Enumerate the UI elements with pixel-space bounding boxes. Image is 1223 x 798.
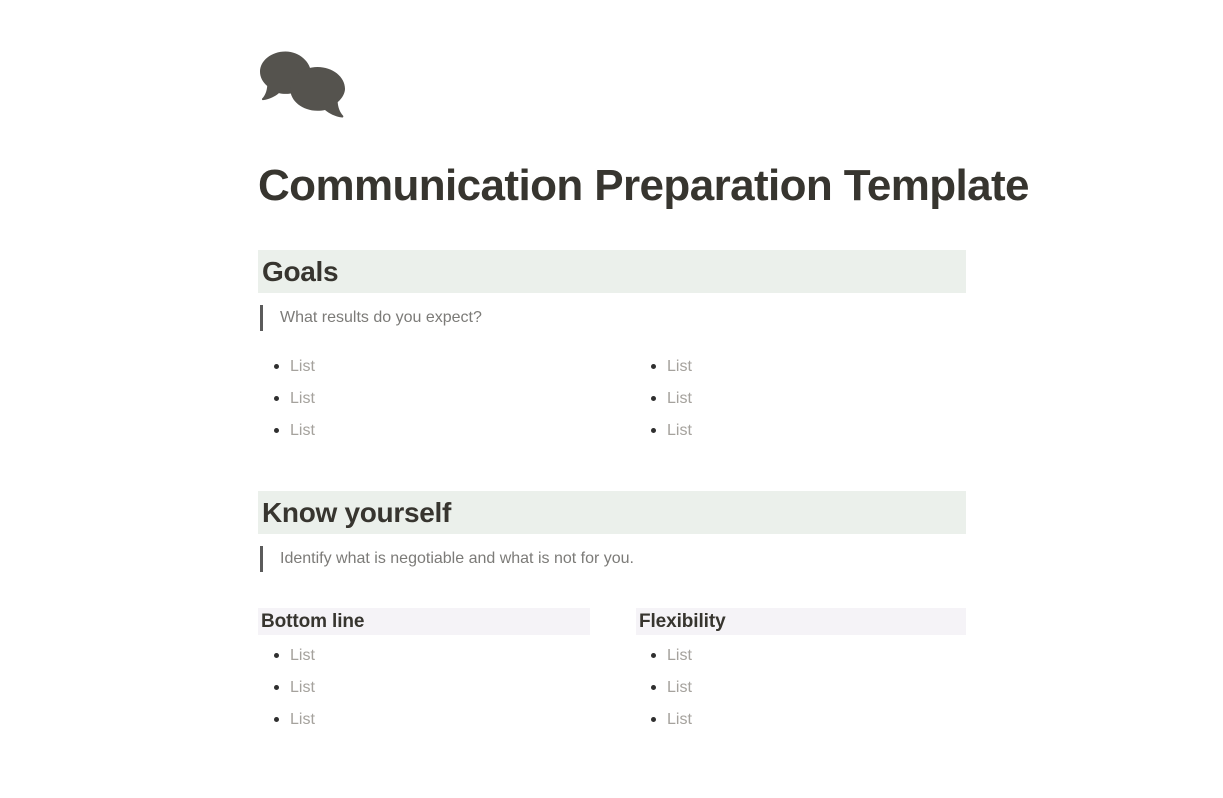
list-item-label: List	[290, 677, 315, 699]
sub-header-bottom-line[interactable]: Bottom line	[258, 608, 590, 635]
list-item[interactable]: List	[637, 415, 957, 447]
bullet-dot-icon	[651, 653, 656, 658]
list-item-label: List	[667, 388, 692, 410]
sub-heading-text: Bottom line	[261, 610, 364, 634]
bullet-dot-icon	[651, 428, 656, 433]
section-heading-text: Know yourself	[262, 496, 451, 530]
bullet-dot-icon	[651, 717, 656, 722]
sub-header-flexibility[interactable]: Flexibility	[636, 608, 966, 635]
list-item-label: List	[667, 645, 692, 667]
list-item[interactable]: List	[637, 704, 957, 736]
bullet-dot-icon	[274, 428, 279, 433]
list-item[interactable]: List	[260, 640, 580, 672]
bullet-list-goals-left: List List List	[260, 351, 580, 447]
section-heading-text: Goals	[262, 255, 338, 289]
bullet-dot-icon	[274, 685, 279, 690]
list-item-label: List	[290, 356, 315, 378]
bullet-dot-icon	[274, 717, 279, 722]
list-item-label: List	[290, 709, 315, 731]
list-item[interactable]: List	[260, 415, 580, 447]
list-item[interactable]: List	[637, 640, 957, 672]
callout-goals[interactable]: What results do you expect?	[260, 305, 860, 331]
bullet-list-goals-right: List List List	[637, 351, 957, 447]
list-item-label: List	[667, 420, 692, 442]
callout-know-yourself[interactable]: Identify what is negotiable and what is …	[260, 546, 960, 572]
callout-text: Identify what is negotiable and what is …	[280, 548, 634, 570]
section-header-know-yourself[interactable]: Know yourself	[258, 491, 966, 534]
bullet-dot-icon	[651, 685, 656, 690]
callout-bar	[260, 305, 263, 331]
list-item-label: List	[290, 388, 315, 410]
list-item[interactable]: List	[637, 351, 957, 383]
sub-heading-text: Flexibility	[639, 610, 726, 634]
bullet-dot-icon	[651, 364, 656, 369]
list-item[interactable]: List	[260, 704, 580, 736]
callout-text: What results do you expect?	[280, 307, 482, 329]
page-title: Communication Preparation Template	[258, 157, 1098, 215]
section-header-goals[interactable]: Goals	[258, 250, 966, 293]
callout-bar	[260, 546, 263, 572]
list-item[interactable]: List	[260, 672, 580, 704]
bullet-dot-icon	[651, 396, 656, 401]
document-page: Communication Preparation Template Goals…	[0, 0, 1223, 798]
bullet-dot-icon	[274, 396, 279, 401]
list-item-label: List	[667, 709, 692, 731]
bullet-list-flexibility: List List List	[637, 640, 957, 736]
list-item[interactable]: List	[637, 383, 957, 415]
list-item[interactable]: List	[260, 383, 580, 415]
bullet-list-bottom-line: List List List	[260, 640, 580, 736]
speech-bubbles-icon[interactable]	[259, 50, 351, 120]
list-item-label: List	[667, 356, 692, 378]
list-item[interactable]: List	[637, 672, 957, 704]
list-item-label: List	[290, 645, 315, 667]
list-item-label: List	[290, 420, 315, 442]
list-item[interactable]: List	[260, 351, 580, 383]
bullet-dot-icon	[274, 364, 279, 369]
bullet-dot-icon	[274, 653, 279, 658]
list-item-label: List	[667, 677, 692, 699]
